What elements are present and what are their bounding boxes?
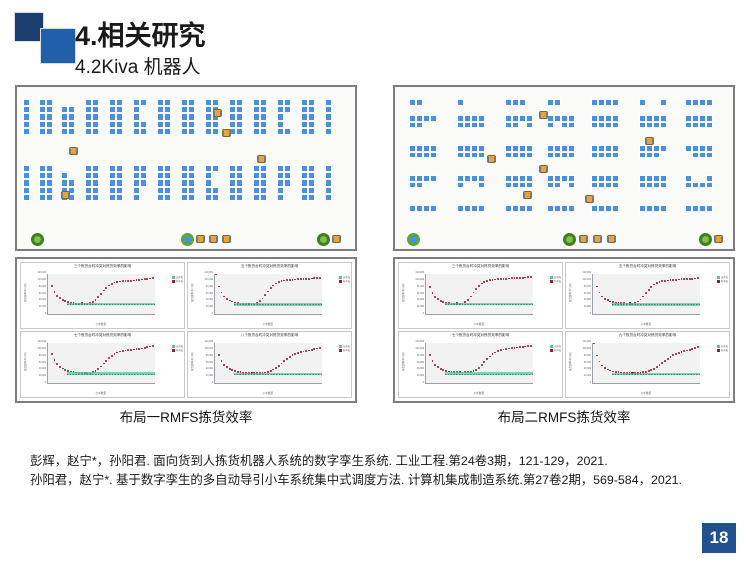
shelf-cell: [605, 115, 612, 122]
chart-y-ticks: 020,00040,00060,00080,000100,000120,000: [407, 274, 425, 315]
shelf-cell: [692, 122, 699, 129]
shelf-cell: [653, 152, 660, 159]
shelf-cell: [519, 152, 526, 159]
shelf-cell: [253, 99, 260, 106]
shelf-cell: [325, 121, 332, 128]
shelf-cell: [164, 99, 171, 106]
caption-layout-two: 布局二RMFS拣货效率: [393, 406, 735, 426]
chart-x-axis-label: 小车数量: [214, 391, 322, 395]
shelf-cell: [39, 121, 46, 128]
shelf-cell: [471, 152, 478, 159]
data-point: [278, 365, 280, 367]
mini-chart: 三个拣货台时冲突对拣货效率的影响拣货效率(单/小时)020,00040,0006…: [20, 262, 185, 329]
shelf-cell: [236, 187, 243, 194]
shelf-cell: [277, 165, 284, 172]
shelf-cell: [308, 179, 315, 186]
shelf-cell: [46, 194, 53, 201]
shelf-cell: [660, 182, 667, 189]
data-point: [650, 286, 652, 288]
shelf-cell: [554, 182, 561, 189]
robot-marker: [714, 235, 723, 243]
shelf-cell: [253, 128, 260, 135]
shelf-cell: [464, 145, 471, 152]
shelf-cell: [277, 106, 284, 113]
shelf-cell: [301, 106, 308, 113]
shelf-cell: [519, 205, 526, 212]
shelf-cell: [116, 121, 123, 128]
data-point: [445, 370, 447, 372]
data-point: [604, 367, 606, 369]
y-tick-label: 40,000: [206, 367, 213, 370]
y-tick-label: 40,000: [584, 367, 591, 370]
shelf-cell: [140, 172, 147, 179]
y-tick-label: 0: [423, 312, 424, 315]
data-point: [691, 278, 693, 280]
shelf-cell: [157, 172, 164, 179]
shelf-cell: [653, 115, 660, 122]
shelf-cell: [116, 187, 123, 194]
shelf-cell: [478, 145, 485, 152]
shelf-cell: [23, 106, 30, 113]
mini-chart: 五个拣货台时冲突对拣货效率的影响拣货效率(单/小时)020,00040,0006…: [565, 262, 730, 329]
shelf-cell: [308, 128, 315, 135]
shelf-cell: [181, 165, 188, 172]
shelf-cell: [639, 122, 646, 129]
shelf-cell: [660, 175, 667, 182]
data-point: [51, 353, 53, 355]
shelf-cell: [554, 145, 561, 152]
shelf-cell: [23, 172, 30, 179]
shelf-cell: [212, 121, 219, 128]
y-tick-label: 20,000: [417, 374, 424, 377]
shelf-cell: [284, 99, 291, 106]
y-tick-label: 120,000: [415, 271, 424, 274]
shelf-cell: [181, 172, 188, 179]
shelf-cell: [85, 106, 92, 113]
shelf-cell: [568, 122, 575, 129]
shelf-cell: [308, 194, 315, 201]
shelf-cell: [471, 122, 478, 129]
shelf-cell: [164, 121, 171, 128]
data-point: [656, 366, 658, 368]
shelf-cell: [157, 194, 164, 201]
shelf-cell: [46, 121, 53, 128]
data-point: [133, 280, 135, 282]
data-point: [664, 360, 666, 362]
chart-plot-area: [425, 343, 533, 384]
data-point: [697, 277, 699, 279]
warehouse-layout-two: [393, 85, 735, 251]
shelf-cell: [519, 115, 526, 122]
shelf-cell: [140, 128, 147, 135]
chart-plot-area: [214, 343, 322, 384]
data-point: [486, 358, 488, 360]
shelf-cell: [416, 122, 423, 129]
chart-x-axis-label: 小车数量: [47, 391, 155, 395]
shelf-cell: [547, 122, 554, 129]
shelf-cell: [301, 187, 308, 194]
shelf-cell: [92, 187, 99, 194]
data-point: [108, 285, 110, 287]
mini-chart: 三个拣货台时冲突对拣货效率的影响拣货效率(单/小时)020,00040,0006…: [398, 262, 563, 329]
data-point: [297, 278, 299, 280]
data-point: [475, 369, 477, 371]
data-point: [136, 348, 138, 350]
shelf-cell: [685, 205, 692, 212]
data-point: [489, 356, 491, 358]
shelf-cell: [157, 106, 164, 113]
shelf-cell: [512, 175, 519, 182]
data-point: [653, 284, 655, 286]
data-point: [100, 366, 102, 368]
data-point: [440, 300, 442, 302]
shelf-cell: [205, 187, 212, 194]
robot-marker: [539, 165, 548, 173]
data-point: [492, 279, 494, 281]
data-point: [489, 279, 491, 281]
data-point: [675, 353, 677, 355]
shelf-cell: [23, 187, 30, 194]
data-point: [316, 277, 318, 279]
shelf-cell: [85, 113, 92, 120]
legend-label: 有冲突: [721, 280, 728, 284]
shelf-cell: [277, 194, 284, 201]
shelf-cell: [39, 106, 46, 113]
robot-marker: [61, 191, 70, 199]
legend-swatch: [550, 345, 553, 348]
data-point: [607, 369, 609, 371]
y-tick-label: 120,000: [415, 340, 424, 343]
y-tick-label: 60,000: [206, 361, 213, 364]
data-point: [259, 300, 261, 302]
shelf-cell: [308, 187, 315, 194]
shelf-cell: [512, 152, 519, 159]
shelf-cell: [639, 205, 646, 212]
data-point: [218, 286, 220, 288]
data-point: [530, 345, 532, 347]
shelf-cell: [639, 182, 646, 189]
shelf-cell: [260, 172, 267, 179]
shelf-cell: [229, 187, 236, 194]
y-tick-label: 60,000: [39, 361, 46, 364]
shelf-cell: [598, 99, 605, 106]
shelf-cell: [140, 99, 147, 106]
shelf-cell: [639, 175, 646, 182]
data-point: [62, 368, 64, 370]
shelf-cell: [229, 99, 236, 106]
shelf-cell: [464, 175, 471, 182]
data-point: [473, 292, 475, 294]
data-point: [67, 370, 69, 372]
shelf-cell: [109, 113, 116, 120]
shelf-cell: [181, 113, 188, 120]
data-point: [138, 279, 140, 281]
shelf-cell: [253, 179, 260, 186]
data-point: [100, 293, 102, 295]
legend-label: 有冲突: [554, 349, 561, 353]
data-point: [514, 277, 516, 279]
shelf-cell: [457, 99, 464, 106]
shelf-cell: [68, 121, 75, 128]
shelf-cell: [692, 152, 699, 159]
mini-chart: 七个拣货台时冲突对拣货效率的影响拣货效率(单/小时)020,00040,0006…: [398, 331, 563, 398]
shelf-cell: [308, 106, 315, 113]
shelf-cell: [308, 121, 315, 128]
data-point: [125, 350, 127, 352]
shelf-cell: [464, 205, 471, 212]
data-point: [689, 278, 691, 280]
y-tick-label: 80,000: [39, 285, 46, 288]
legend-swatch: [339, 280, 342, 283]
data-point: [483, 361, 485, 363]
data-point: [125, 280, 127, 282]
reference-item: 彭辉，赵宁*，孙阳君. 面向货到人拣货机器人系统的数字孪生系统. 工业工程.第2…: [30, 452, 720, 471]
shelf-cell: [568, 145, 575, 152]
shelf-cell: [39, 113, 46, 120]
legend-swatch: [339, 345, 342, 348]
data-point: [483, 281, 485, 283]
shelf-cell: [301, 165, 308, 172]
shelf-cell: [660, 115, 667, 122]
shelf-cell: [706, 182, 713, 189]
y-tick-label: 100,000: [37, 278, 46, 281]
data-point: [264, 294, 266, 296]
chart-y-ticks: 020,00040,00060,00080,000100,000120,000: [574, 274, 592, 315]
y-tick-label: 120,000: [582, 271, 591, 274]
y-tick-label: 40,000: [39, 298, 46, 301]
y-tick-label: 80,000: [206, 285, 213, 288]
shelf-cell: [308, 113, 315, 120]
legend-label: 有冲突: [176, 349, 183, 353]
shelf-cell: [277, 113, 284, 120]
y-tick-label: 0: [45, 381, 46, 384]
chart-plot-area: [592, 343, 700, 384]
data-point: [642, 296, 644, 298]
shelf-cell: [116, 179, 123, 186]
chart-grid-layout-one: 三个拣货台时冲突对拣货效率的影响拣货效率(单/小时)020,00040,0006…: [15, 257, 357, 403]
shelf-cell: [109, 99, 116, 106]
shelf-cell: [471, 205, 478, 212]
mini-chart: 七个拣货台时冲突对拣货效率的影响拣货效率(单/小时)020,00040,0006…: [20, 331, 185, 398]
shelf-cell: [116, 113, 123, 120]
shelf-cell: [164, 113, 171, 120]
robot-marker: [645, 137, 654, 145]
shelf-cell: [109, 194, 116, 201]
shelf-cell: [478, 115, 485, 122]
shelf-cell: [236, 128, 243, 135]
data-point: [97, 368, 99, 370]
shelf-cell: [612, 99, 619, 106]
shelf-cell: [646, 115, 653, 122]
shelf-cell: [605, 205, 612, 212]
shelf-cell: [512, 122, 519, 129]
shelf-cell: [416, 182, 423, 189]
data-point: [141, 279, 143, 281]
shelf-cell: [478, 182, 485, 189]
shelf-cell: [109, 187, 116, 194]
baseline-series-line: [612, 304, 699, 305]
shelf-cell: [92, 165, 99, 172]
data-point: [601, 365, 603, 367]
shelf-cell: [685, 115, 692, 122]
shelf-cell: [205, 113, 212, 120]
mini-chart: 八个拣货台时冲突对拣货效率的影响拣货效率(单/小时)020,00040,0006…: [187, 331, 352, 398]
shelf-cell: [409, 182, 416, 189]
data-point: [648, 289, 650, 291]
chart-y-ticks: 020,00040,00060,00080,000100,000120,000: [196, 274, 214, 315]
data-point: [524, 277, 526, 279]
data-point: [672, 279, 674, 281]
y-tick-label: 40,000: [584, 298, 591, 301]
y-tick-label: 20,000: [39, 374, 46, 377]
y-tick-label: 80,000: [417, 285, 424, 288]
chart-y-axis-label: 拣货效率(单/小时): [401, 283, 405, 302]
shelf-cell: [229, 106, 236, 113]
shelf-cell: [140, 165, 147, 172]
decor-square-light: [40, 28, 76, 64]
shelf-cell: [109, 121, 116, 128]
chart-title: 九个拣货台时冲突对拣货效率的影响: [566, 333, 729, 338]
chart-x-axis-label: 小车数量: [47, 322, 155, 326]
shelf-cell: [23, 121, 30, 128]
y-tick-label: 40,000: [417, 298, 424, 301]
shelf-cell: [39, 187, 46, 194]
data-point: [270, 287, 272, 289]
shelf-cell: [164, 106, 171, 113]
caption-layout-one: 布局一RMFS拣货效率: [15, 406, 357, 426]
shelf-cell: [92, 128, 99, 135]
data-point: [659, 364, 661, 366]
shelf-cell: [188, 165, 195, 172]
y-tick-label: 0: [212, 381, 213, 384]
y-tick-label: 0: [590, 381, 591, 384]
data-point: [609, 370, 611, 372]
shelf-cell: [653, 145, 660, 152]
shelf-cell: [660, 122, 667, 129]
shelf-cell: [423, 145, 430, 152]
shelf-cell: [598, 115, 605, 122]
shelf-cell: [133, 113, 140, 120]
data-point: [697, 346, 699, 348]
shelf-cell: [706, 122, 713, 129]
shelf-cell: [92, 113, 99, 120]
shelf-cell: [205, 99, 212, 106]
shelf-cell: [505, 99, 512, 106]
shelf-cell: [430, 145, 437, 152]
data-point: [648, 370, 650, 372]
legend-swatch: [172, 276, 175, 279]
data-point: [59, 297, 61, 299]
chart-y-axis-label: 拣货效率(单/小时): [401, 352, 405, 371]
shelf-cell: [260, 187, 267, 194]
data-point: [281, 280, 283, 282]
legend-label: 有冲突: [721, 349, 728, 353]
shelf-cell: [598, 145, 605, 152]
shelf-cell: [325, 113, 332, 120]
shelf-cell: [133, 179, 140, 186]
shelf-cell: [325, 99, 332, 106]
data-point: [297, 352, 299, 354]
shelf-cell: [140, 121, 147, 128]
shelf-cell: [692, 205, 699, 212]
data-point: [429, 354, 431, 356]
shelf-cell: [133, 187, 140, 194]
shelf-cell: [164, 179, 171, 186]
shelf-cell: [605, 152, 612, 159]
shelf-cell: [416, 99, 423, 106]
shelf-cell: [284, 179, 291, 186]
data-point: [505, 278, 507, 280]
shelf-cell: [612, 152, 619, 159]
shelf-cell: [23, 128, 30, 135]
data-point: [607, 299, 609, 301]
shelf-cell: [85, 165, 92, 172]
shelf-cell: [591, 205, 598, 212]
chart-grid-layout-two: 三个拣货台时冲突对拣货效率的影响拣货效率(单/小时)020,00040,0006…: [393, 257, 735, 403]
data-point: [300, 351, 302, 353]
chart-y-axis-label: 拣货效率(单/小时): [23, 352, 27, 371]
y-tick-label: 100,000: [204, 278, 213, 281]
data-point: [231, 369, 233, 371]
shelf-cell: [260, 113, 267, 120]
shelf-cell: [164, 194, 171, 201]
data-point: [272, 369, 274, 371]
legend-entry: 有冲突: [550, 349, 561, 353]
y-tick-label: 100,000: [582, 347, 591, 350]
shelf-cell: [598, 152, 605, 159]
shelf-cell: [457, 122, 464, 129]
shelf-cell: [646, 145, 653, 152]
shelf-cell: [301, 194, 308, 201]
shelf-cell: [157, 128, 164, 135]
shelf-cell: [205, 172, 212, 179]
shelf-cell: [699, 205, 706, 212]
data-point: [522, 346, 524, 348]
data-point: [516, 277, 518, 279]
shelf-cell: [505, 145, 512, 152]
legend-entry: 有冲突: [172, 280, 183, 284]
chart-y-axis-label: 拣货效率(单/小时): [568, 283, 572, 302]
shelf-cell: [308, 165, 315, 172]
shelf-cell: [430, 205, 437, 212]
shelf-cell: [699, 145, 706, 152]
shelf-cell: [46, 187, 53, 194]
shelf-cell: [547, 115, 554, 122]
shelf-cell: [660, 99, 667, 106]
data-point: [667, 280, 669, 282]
shelf-cell: [554, 175, 561, 182]
shelf-cell: [660, 145, 667, 152]
data-point: [478, 367, 480, 369]
shelf-cell: [301, 128, 308, 135]
shelf-cell: [109, 179, 116, 186]
legend-swatch: [550, 276, 553, 279]
shelf-cell: [260, 121, 267, 128]
shelf-cell: [685, 175, 692, 182]
shelf-cell: [605, 122, 612, 129]
shelf-cell: [526, 145, 533, 152]
legend-label: 有冲突: [343, 349, 350, 353]
data-point: [686, 278, 688, 280]
data-point: [226, 366, 228, 368]
shelf-cell: [308, 99, 315, 106]
shelf-cell: [591, 122, 598, 129]
shelf-cell: [301, 179, 308, 186]
chart-title: 三个拣货台时冲突对拣货效率的影响: [21, 264, 184, 269]
data-point: [313, 277, 315, 279]
legend-entry: 有冲突: [339, 349, 350, 353]
data-point: [278, 281, 280, 283]
